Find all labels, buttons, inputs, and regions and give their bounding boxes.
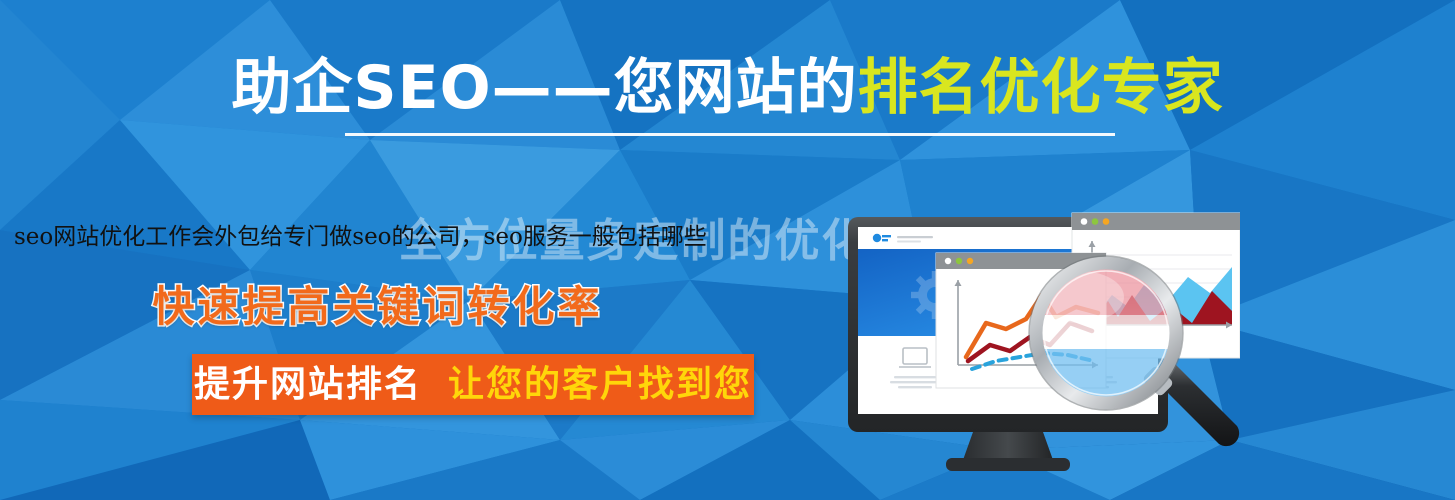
headline-white-text: 助企SEO——您网站的 bbox=[231, 53, 857, 123]
seo-promo-banner: 助企SEO——您网站的排名优化专家 全方位量身定制的优化推广服务 快速提高关键词… bbox=[0, 0, 1455, 500]
headline-underline bbox=[345, 133, 1115, 136]
article-title-overlay: seo网站优化工作会外包给专门做seo的公司，seo服务一般包括哪些 bbox=[14, 224, 707, 252]
cta-banner[interactable]: 提升网站排名 让您的客户找到您 bbox=[192, 354, 754, 415]
cta-primary-text: 提升网站排名 bbox=[194, 367, 422, 403]
headline: 助企SEO——您网站的排名优化专家 bbox=[0, 58, 1455, 118]
seo-monitor-illustration bbox=[840, 145, 1240, 490]
cta-secondary-text: 让您的客户找到您 bbox=[448, 367, 752, 403]
headline-yellow-text: 排名优化专家 bbox=[858, 53, 1224, 123]
